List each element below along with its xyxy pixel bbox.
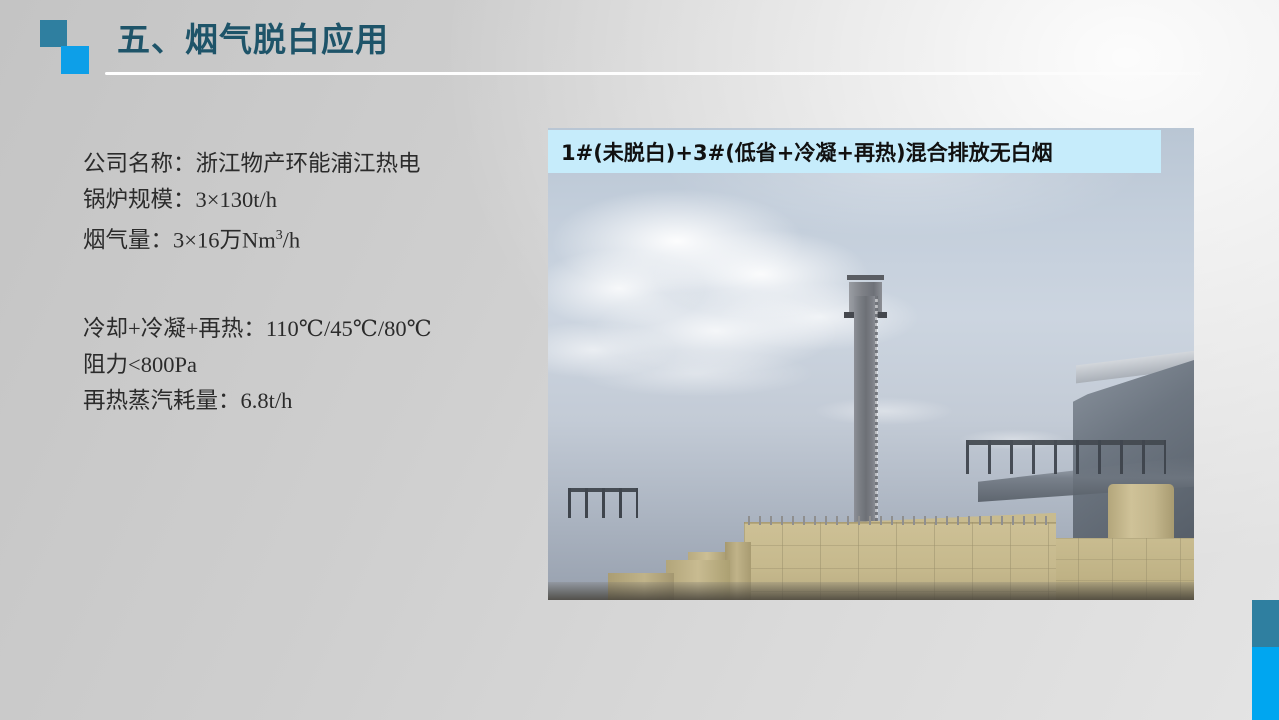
page-title: 五、烟气脱白应用 (117, 18, 389, 62)
spec-resistance: 阻力<800Pa (83, 347, 513, 383)
photo-scene (548, 128, 1194, 600)
spec-flue-gas-volume-label: 烟气量：3×16万Nm (83, 228, 276, 253)
corner-accent-bar (1252, 600, 1279, 720)
chimney-top-ring (847, 275, 884, 280)
corner-accent-blue (1252, 647, 1279, 720)
plant-photo (548, 128, 1194, 600)
gantry-structure (966, 440, 1166, 474)
specs-text-column: 公司名称：浙江物产环能浦江热电 锅炉规模：3×130t/h 烟气量：3×16万N… (83, 146, 513, 419)
decorative-square-blue-icon (61, 46, 89, 74)
spec-flue-gas-volume-exponent: 3 (276, 228, 283, 243)
specs-text-block-2: 冷却+冷凝+再热：110℃/45℃/80℃ 阻力<800Pa 再热蒸汽耗量：6.… (83, 311, 513, 419)
spec-company-name: 公司名称：浙江物产环能浦江热电 (83, 146, 513, 182)
decorative-square-teal-icon (40, 20, 67, 47)
slide-header: 五、烟气脱白应用 (0, 0, 1279, 80)
spec-reheat-steam-consumption: 再热蒸汽耗量：6.8t/h (83, 383, 513, 419)
spec-boiler-scale: 锅炉规模：3×130t/h (83, 182, 513, 218)
photo-caption-banner: 1#(未脱白)+3#(低省+冷凝+再热)混合排放无白烟 (548, 130, 1161, 173)
roof-crane (568, 488, 638, 518)
spec-cool-condense-reheat: 冷却+冷凝+再热：110℃/45℃/80℃ (83, 311, 513, 347)
title-underline-divider (105, 72, 1201, 75)
spec-flue-gas-volume: 烟气量：3×16万Nm3/h (83, 218, 513, 259)
spec-flue-gas-volume-unit: /h (283, 228, 301, 253)
corner-accent-teal (1252, 600, 1279, 647)
foreground-ground (548, 582, 1194, 600)
rooftop-railing (748, 516, 1048, 525)
